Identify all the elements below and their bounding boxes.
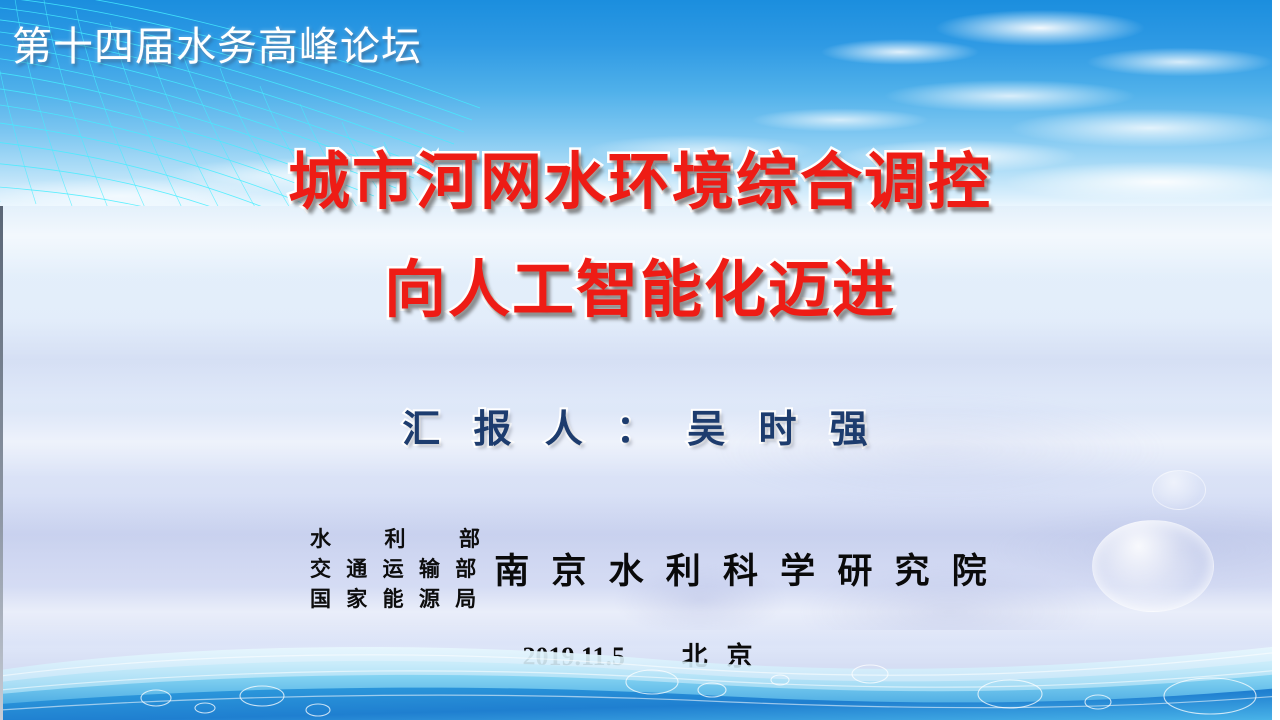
main-title: 城市河网水环境综合调控 向人工智能化迈进 bbox=[0, 128, 1280, 344]
ministry-list: 水 利 部 交 通 运 输 部 国 家 能 源 局 bbox=[310, 524, 480, 614]
ministry-char: 部 bbox=[459, 524, 480, 554]
ministry-char: 利 bbox=[385, 524, 406, 554]
ministry-item-water: 水 利 部 bbox=[310, 524, 480, 554]
presentation-slide: 第十四届水务高峰论坛 城市河网水环境综合调控 向人工智能化迈进 汇 报 人 ： … bbox=[0, 0, 1280, 720]
ministry-item-transport: 交 通 运 输 部 bbox=[310, 554, 480, 584]
title-line-2: 向人工智能化迈进 bbox=[0, 236, 1280, 344]
right-border bbox=[1272, 0, 1280, 720]
bubble-icon bbox=[1152, 470, 1206, 510]
ministry-char: 水 bbox=[310, 524, 331, 554]
forum-title: 第十四届水务高峰论坛 bbox=[12, 14, 422, 72]
title-line-1: 城市河网水环境综合调控 bbox=[0, 128, 1280, 236]
presenter-line: 汇 报 人 ： 吴 时 强 bbox=[0, 398, 1280, 453]
bubble-icon bbox=[1092, 520, 1214, 612]
institute-name: 南 京 水 利 科 学 研 究 院 bbox=[494, 554, 991, 590]
left-border bbox=[0, 206, 3, 720]
affiliation-block: 水 利 部 交 通 运 输 部 国 家 能 源 局 南 京 水 利 科 学 研 … bbox=[310, 524, 992, 614]
water-wave-icon bbox=[0, 624, 1280, 720]
ministry-item-energy: 国 家 能 源 局 bbox=[310, 584, 480, 614]
